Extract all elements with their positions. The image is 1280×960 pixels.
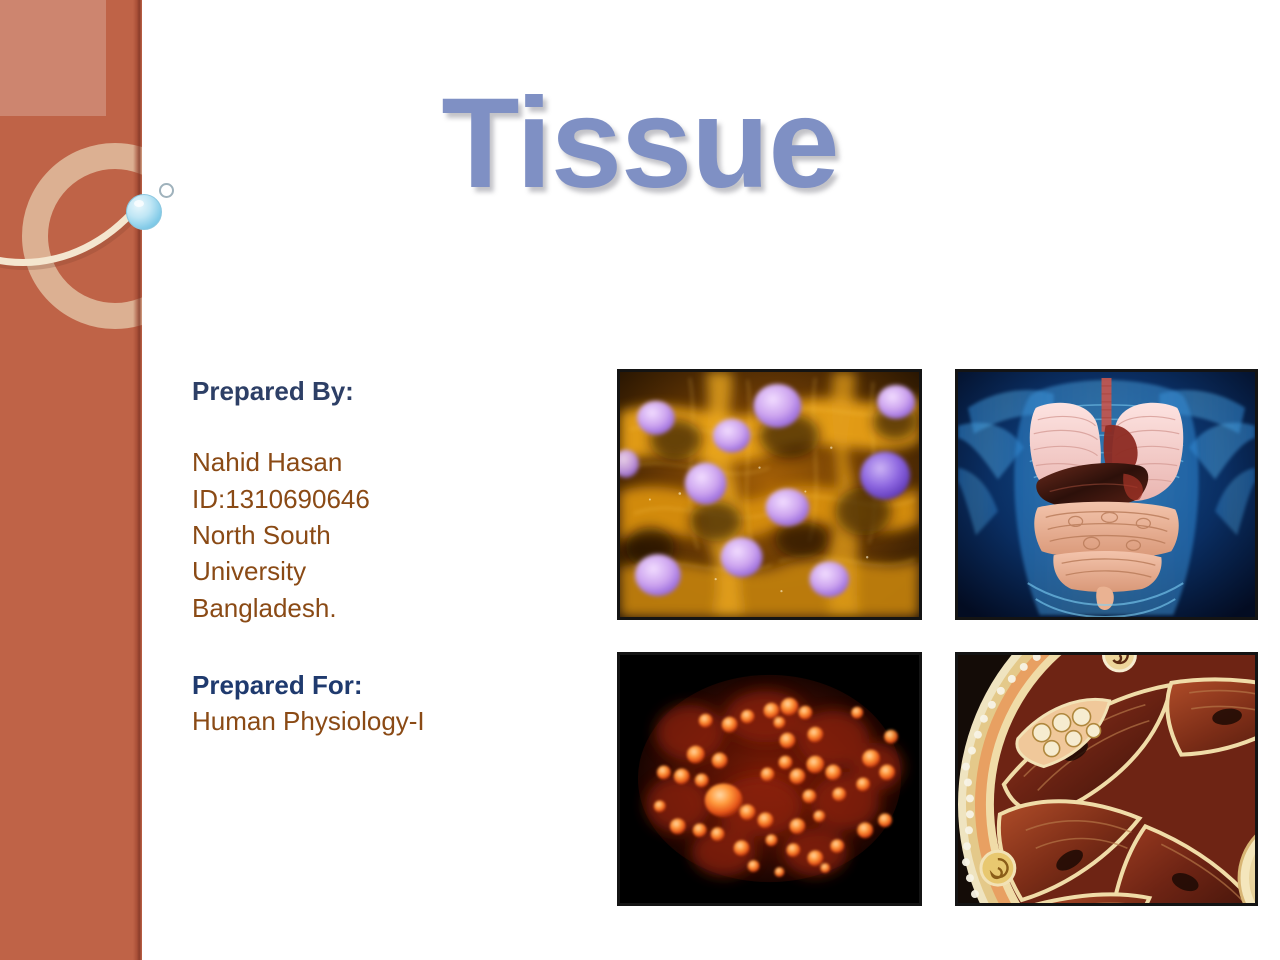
image-grid xyxy=(617,369,1258,906)
author-name: Nahid Hasan xyxy=(192,444,592,480)
author-info-block: Prepared By: Nahid Hasan ID:1310690646 N… xyxy=(192,374,592,739)
spacer xyxy=(192,626,592,668)
university-line-2: University xyxy=(192,553,592,589)
prepared-by-label: Prepared By: xyxy=(192,374,592,408)
image-human-torso-anatomy-illustration xyxy=(955,369,1258,620)
image-red-fluorescent-cells-micrograph xyxy=(617,652,922,906)
page-title: Tissue xyxy=(0,74,1280,215)
country-line: Bangladesh. xyxy=(192,590,592,626)
prepared-for-label: Prepared For: xyxy=(192,668,592,702)
red-fluorescent-cells-graphic xyxy=(620,655,919,903)
image-quilled-paper-stem-cross-section xyxy=(955,652,1258,906)
quilled-paper-cross-section-graphic xyxy=(958,655,1255,903)
presentation-slide: Tissue Prepared By: Nahid Hasan ID:13106… xyxy=(0,0,1280,960)
fluorescent-cell-culture-graphic xyxy=(620,372,919,617)
human-torso-anatomy-graphic xyxy=(958,372,1255,617)
university-line-1: North South xyxy=(192,517,592,553)
spacer xyxy=(192,408,592,444)
course-name: Human Physiology-I xyxy=(192,703,592,739)
image-fluorescent-cell-culture-micrograph xyxy=(617,369,922,620)
author-id: ID:1310690646 xyxy=(192,481,592,517)
